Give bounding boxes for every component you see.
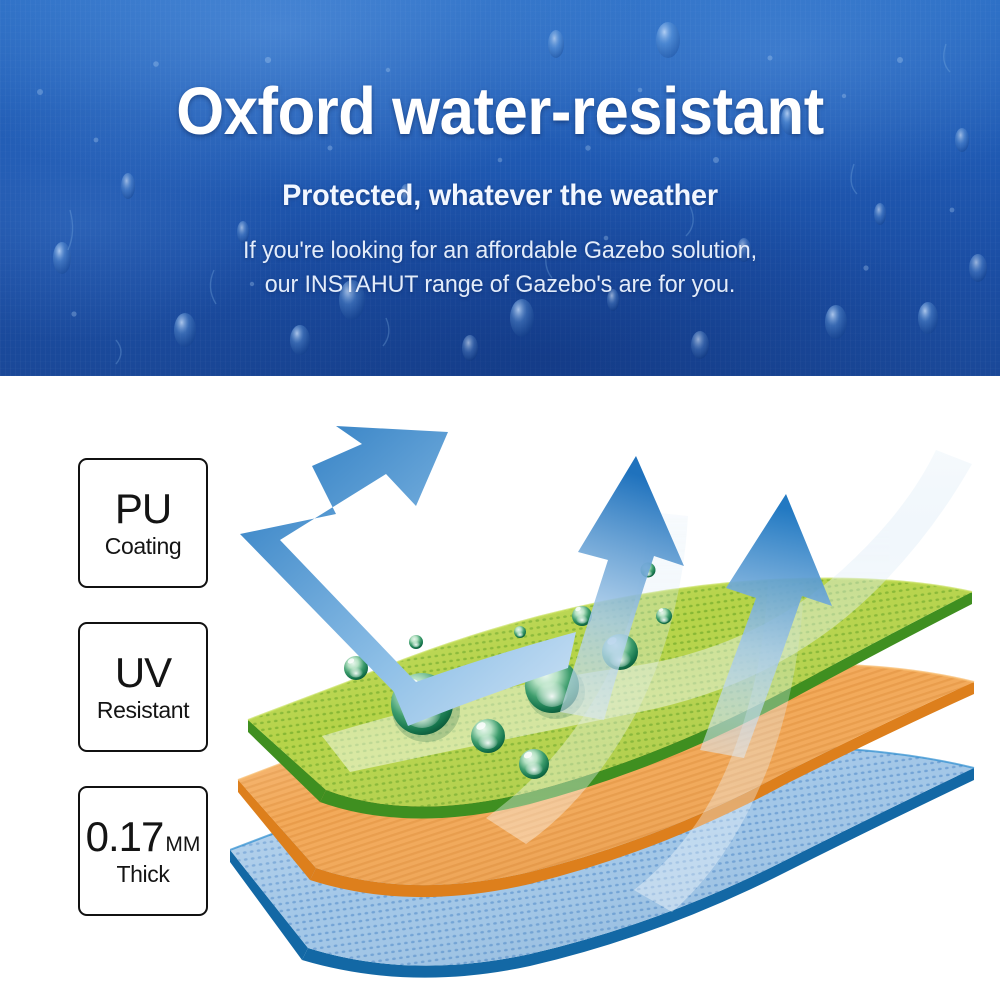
hero-subtitle: Protected, whatever the weather <box>20 178 980 214</box>
badge-uv-value: UV <box>115 651 171 695</box>
badge-thickness: 0.17 MM Thick <box>78 786 208 916</box>
badge-uv-label: Resistant <box>97 697 189 723</box>
droplet-small-5 <box>514 626 526 638</box>
fabric-layers-svg <box>230 420 1000 980</box>
feature-badge-list: PU Coating UV Resistant 0.17 MM Thick <box>78 458 210 950</box>
layered-fabric-diagram <box>230 420 1000 980</box>
droplet-medium-1 <box>471 719 505 753</box>
badge-uv-main-row: UV <box>115 651 171 695</box>
droplet-small-4 <box>409 635 423 649</box>
hero-description: If you're looking for an affordable Gaze… <box>15 234 985 302</box>
hero-banner: Oxford water-resistant Protected, whatev… <box>0 0 1000 376</box>
page-title: Oxford water-resistant <box>40 76 960 148</box>
badge-pu-coating: PU Coating <box>78 458 208 588</box>
hero-description-line-1: If you're looking for an affordable Gaze… <box>15 234 985 268</box>
badge-thickness-unit: MM <box>165 834 200 855</box>
badge-thickness-label: Thick <box>117 861 170 887</box>
badge-uv-resistant: UV Resistant <box>78 622 208 752</box>
badge-pu-main-row: PU <box>115 487 171 531</box>
deflection-arrow-left <box>240 426 576 726</box>
badge-thickness-main-row: 0.17 MM <box>86 815 201 859</box>
droplet-medium-2 <box>519 749 549 779</box>
hero-description-line-2: our INSTAHUT range of Gazebo's are for y… <box>15 268 985 302</box>
badge-pu-label: Coating <box>105 533 181 559</box>
product-feature-graphic: Oxford water-resistant Protected, whatev… <box>0 0 1000 1000</box>
badge-pu-value: PU <box>115 487 171 531</box>
badge-thickness-value: 0.17 <box>86 815 164 859</box>
